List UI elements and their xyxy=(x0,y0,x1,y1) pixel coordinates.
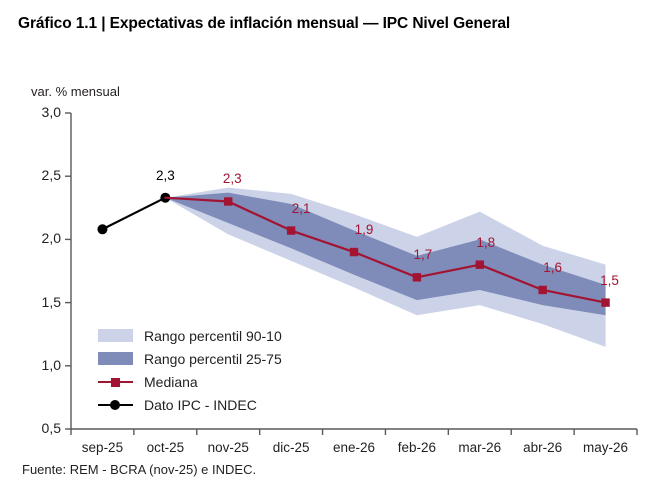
data-label-mediana: 1,8 xyxy=(476,235,495,250)
x-axis-tick-label: oct-25 xyxy=(147,440,185,455)
marker-mediana xyxy=(224,197,232,205)
marker-mediana xyxy=(538,286,546,294)
x-axis-tick-label: feb-26 xyxy=(398,440,436,455)
source-note: Fuente: REM - BCRA (nov-25) e INDEC. xyxy=(22,462,256,477)
marker-mediana xyxy=(413,273,421,281)
x-axis-tick-label: mar-26 xyxy=(458,440,501,455)
legend-swatch-p25-75-icon xyxy=(98,352,133,365)
y-axis-tick-label: 2,5 xyxy=(19,167,61,183)
y-axis-tick-label: 3,0 xyxy=(19,104,61,120)
chart-svg xyxy=(0,0,651,496)
marker-mediana xyxy=(350,248,358,256)
data-label-mediana: 2,3 xyxy=(223,171,242,186)
marker-mediana xyxy=(476,260,484,268)
y-axis-tick-label: 0,5 xyxy=(19,420,61,436)
x-axis-tick-label: dic-25 xyxy=(273,440,310,455)
data-label-mediana: 1,5 xyxy=(600,273,619,288)
legend-line-square-icon xyxy=(98,375,133,388)
chart-plot-area: 0,51,01,52,02,53,0 sep-25oct-25nov-25dic… xyxy=(0,0,651,496)
line-indec xyxy=(102,198,165,230)
y-axis-tick-label: 1,5 xyxy=(19,294,61,310)
x-axis-tick-label: abr-26 xyxy=(523,440,562,455)
x-axis-tick-label: nov-25 xyxy=(208,440,249,455)
legend-item-mediana: Mediana xyxy=(98,371,282,392)
y-axis-tick-label: 1,0 xyxy=(19,357,61,373)
data-label-mediana: 1,6 xyxy=(543,260,562,275)
data-label-mediana: 1,9 xyxy=(355,222,374,237)
marker-indec xyxy=(97,224,107,234)
legend-swatch-p90-10-icon xyxy=(98,329,133,342)
legend-item-p90-10: Rango percentil 90-10 xyxy=(98,325,282,346)
chart-legend: Rango percentil 90-10 Rango percentil 25… xyxy=(98,325,282,415)
data-label-mediana: 2,1 xyxy=(292,201,311,216)
legend-label-mediana: Mediana xyxy=(144,374,198,390)
y-axis-tick-label: 2,0 xyxy=(19,230,61,246)
legend-label-indec: Dato IPC - INDEC xyxy=(144,397,257,413)
marker-mediana xyxy=(601,298,609,306)
x-axis-tick-label: may-26 xyxy=(583,440,628,455)
data-label-mediana: 1,7 xyxy=(413,247,432,262)
legend-item-p25-75: Rango percentil 25-75 xyxy=(98,348,282,369)
percentile-bands xyxy=(165,188,605,347)
data-label-indec: 2,3 xyxy=(156,168,175,183)
legend-label-p25-75: Rango percentil 25-75 xyxy=(144,351,282,367)
legend-item-indec: Dato IPC - INDEC xyxy=(98,394,282,415)
marker-mediana xyxy=(287,226,295,234)
legend-label-p90-10: Rango percentil 90-10 xyxy=(144,328,282,344)
x-axis-tick-label: sep-25 xyxy=(82,440,123,455)
x-axis-tick-label: ene-26 xyxy=(333,440,375,455)
legend-line-circle-icon xyxy=(98,398,133,411)
